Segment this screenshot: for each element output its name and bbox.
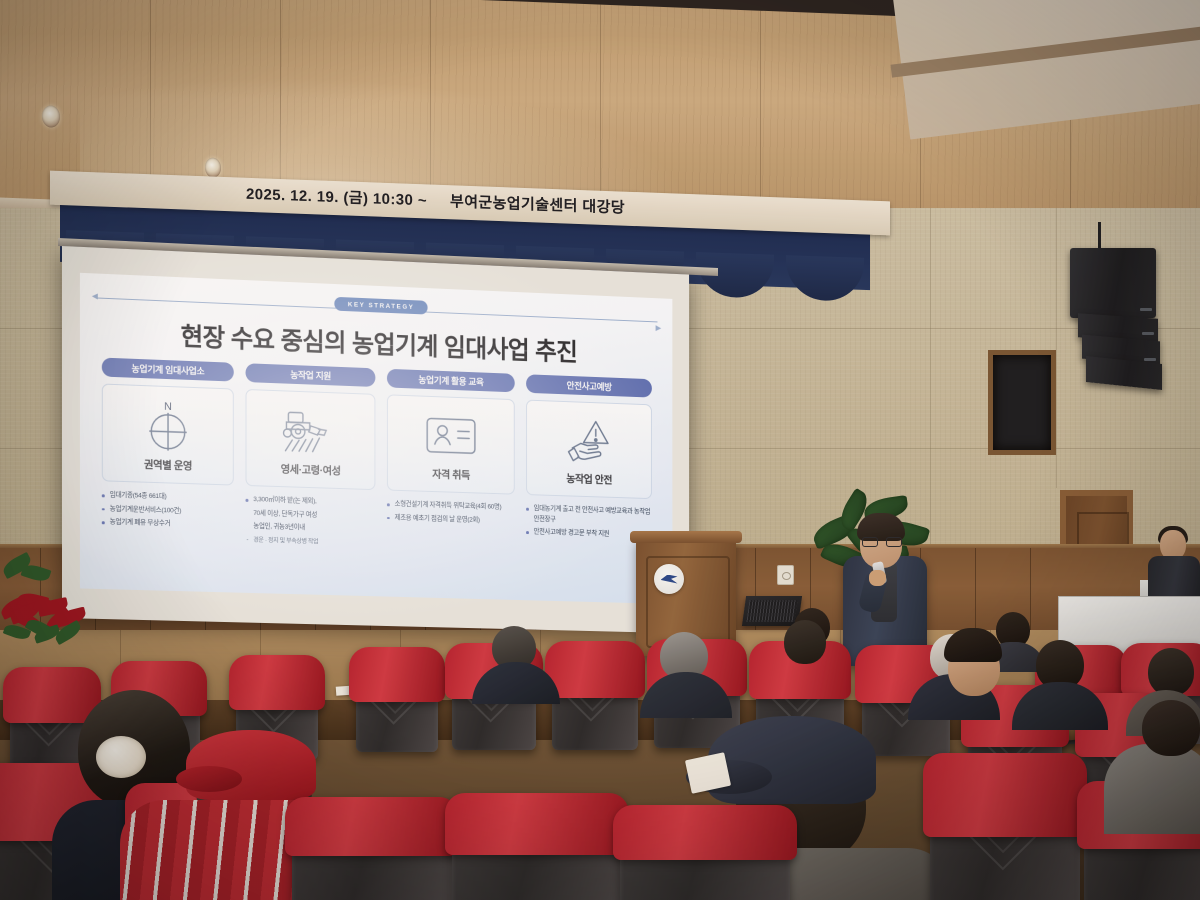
bullet-item-cont: 70세 이상, 단독가구 여성 <box>246 508 376 522</box>
column-caption: 영세·고령·여성 <box>281 461 341 478</box>
column-caption: 자격 취득 <box>432 466 470 482</box>
speaker-badge <box>1144 358 1156 361</box>
banner-location: 부여군농업기술센터 대강당 <box>450 190 625 217</box>
wall-seam <box>930 208 931 548</box>
bullet-item: 3,300㎡이하 밭(논 제외), <box>246 495 376 509</box>
seat[interactable] <box>292 804 452 900</box>
hand-warning-icon <box>561 412 617 468</box>
seat[interactable] <box>930 760 1080 900</box>
bullet-item: 농업기계 폐유 무상수거 <box>102 517 234 531</box>
slide-column-farmwork-support: 농작업 지원 <box>246 363 376 565</box>
svg-text:N: N <box>164 400 172 412</box>
bullet-item: 임대기종(54종 661대) <box>102 490 234 505</box>
presenter-hand <box>869 570 886 586</box>
bullet-item: 소형건설기계 자격취득 위탁교육(4회 60명) <box>387 499 515 513</box>
seat[interactable] <box>620 812 790 900</box>
slide-column-training: 농업기계 활용 교육 <box>387 369 515 569</box>
podium-top-surface <box>630 531 742 543</box>
ceiling-downlight <box>205 157 221 178</box>
slide-kicker-badge: KEY STRATEGY <box>334 297 427 315</box>
column-bullets: 소형건설기계 자격취득 위탁교육(4회 60명) 제초용 예초기 점검의 날 운… <box>387 499 515 526</box>
column-card: N 권역별 운영 <box>102 384 234 486</box>
column-header: 농업기계 임대사업소 <box>102 358 234 382</box>
arrow-left-icon <box>92 293 98 299</box>
audience-head <box>1142 700 1200 756</box>
column-header: 농작업 지원 <box>246 363 376 387</box>
column-bullets: 임대기종(54종 661대) 농업기계운반서비스(100건) 농업기계 폐유 무… <box>102 490 234 531</box>
slide-columns: 농업기계 임대사업소 N 권역별 운영 <box>102 358 652 573</box>
bullet-subnote: 경운 · 정지 및 부속상병 작업 <box>246 535 376 549</box>
audience-head <box>784 620 826 664</box>
compass-icon: N <box>140 396 195 454</box>
emblem-mark-icon <box>661 575 678 584</box>
column-bullets: 3,300㎡이하 밭(논 제외), 70세 이상, 단독가구 여성 농업인, 귀… <box>246 495 376 549</box>
banner-datetime: 2025. 12. 19. (금) 10:30 ~ <box>246 183 427 211</box>
audience-shoulders <box>1104 744 1200 834</box>
bullet-item: 임대농기계 출고 전 안전사고 예방교육과 농작업 안전장구 <box>526 504 652 528</box>
presentation-slide: KEY STRATEGY 현장 수요 중심의 농업기계 임대사업 추진 농업기계… <box>80 273 672 604</box>
column-card: 영세·고령·여성 <box>246 389 376 490</box>
poinsettia-plant <box>10 596 100 676</box>
column-card: 자격 취득 <box>387 394 515 494</box>
arrow-right-icon <box>656 325 662 331</box>
bullet-item: 농업기계운반서비스(100건) <box>102 504 234 519</box>
projection-screen: KEY STRATEGY 현장 수요 중심의 농업기계 임대사업 추진 농업기계… <box>62 246 689 633</box>
ceiling-downlight <box>42 105 60 128</box>
seat[interactable] <box>452 800 622 900</box>
bullet-item: 제초용 예초기 점검의 날 운영(2회) <box>387 513 515 527</box>
acoustic-panel <box>988 350 1056 455</box>
wall-seam <box>1056 208 1057 488</box>
column-header: 농업기계 활용 교육 <box>387 369 515 393</box>
column-card: 농작업 안전 <box>526 400 652 500</box>
column-caption: 농작업 안전 <box>566 471 612 487</box>
speaker-badge <box>1140 308 1152 311</box>
institution-emblem <box>654 564 684 594</box>
seat[interactable] <box>552 648 638 750</box>
column-header: 안전사고예방 <box>526 374 652 397</box>
tractor-plowing-icon <box>279 402 343 460</box>
presenter-glasses <box>862 537 900 545</box>
auditorium-photo: 2025. 12. 19. (금) 10:30 ~ 부여군농업기술센터 대강당 … <box>0 0 1200 900</box>
speaker-mount-rod <box>1098 222 1101 248</box>
cap-brim <box>176 766 242 792</box>
speaker-badge <box>1142 332 1154 335</box>
column-caption: 권역별 운영 <box>144 456 192 473</box>
slide-column-rental-office: 농업기계 임대사업소 N 권역별 운영 <box>102 358 234 561</box>
hair-scrunchie <box>96 736 146 778</box>
id-card-icon <box>421 407 480 464</box>
bullet-item-cont: 농업인, 귀농3년이내 <box>246 522 376 536</box>
seat[interactable] <box>356 654 438 752</box>
wall-outlet <box>777 565 794 585</box>
audience-head <box>1148 648 1194 696</box>
stage-monitor-speaker <box>742 596 802 626</box>
